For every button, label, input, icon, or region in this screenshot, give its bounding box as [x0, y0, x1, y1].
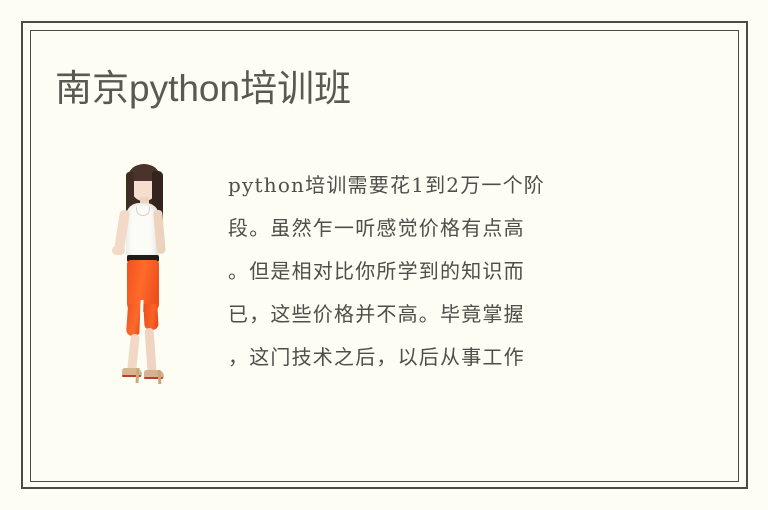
hand-left	[112, 246, 125, 255]
calf-left	[127, 334, 140, 373]
page-title: 南京python培训班	[55, 66, 351, 112]
article-line: ，这门技术之后，以后从事工作	[228, 336, 648, 379]
shoe-heel-left	[135, 368, 139, 383]
pant-leg-right	[143, 304, 158, 331]
content-area: python培训需要花1到2万一个阶 段。虽然乍一听感觉价格有点高 。但是相对比…	[0, 150, 768, 410]
article-line: python培训需要花1到2万一个阶	[228, 164, 648, 207]
woman-standing-photo	[92, 162, 198, 392]
pant-leg-gap	[139, 300, 143, 334]
article-line: 段。虽然乍一听感觉价格有点高	[228, 207, 648, 250]
article-line: 已，这些价格并不高。毕竟掌握	[228, 293, 648, 336]
calf-right	[144, 328, 156, 373]
poster-canvas: 南京python培训班	[0, 0, 768, 510]
article-body: python培训需要花1到2万一个阶 段。虽然乍一听感觉价格有点高 。但是相对比…	[228, 164, 648, 379]
article-line: 。但是相对比你所学到的知识而	[228, 250, 648, 293]
